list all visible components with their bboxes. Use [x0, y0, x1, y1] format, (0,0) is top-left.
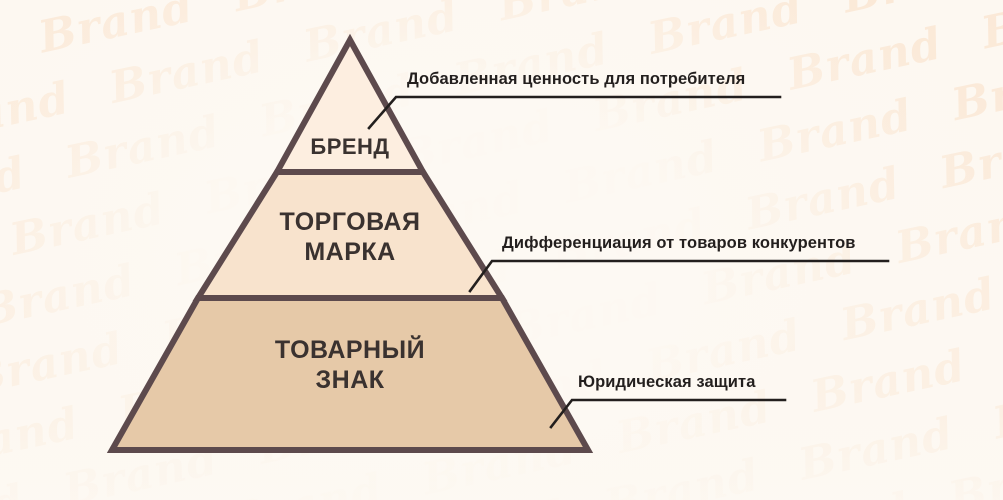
pyramid-tier-label-brand: БРЕНД	[255, 134, 445, 160]
callout-leader-line-legal-protection	[551, 400, 785, 427]
callout-leader-line-differentiation	[470, 261, 888, 291]
pyramid-tier-label-trademark: ТОРГОВАЯ МАРКА	[215, 208, 485, 267]
diagram-canvas: BrandBrandBrandBrandBrandBrandBrandBrand…	[0, 0, 1003, 500]
pyramid-tier-label-trade-sign: ТОВАРНЫЙ ЗНАК	[205, 336, 495, 395]
callout-leader-line-added-value	[369, 97, 780, 128]
callout-label-legal-protection: Юридическая защита	[578, 373, 756, 392]
callout-label-differentiation: Дифференциация от товаров конкурентов	[502, 234, 856, 253]
callout-label-added-value: Добавленная ценность для потребителя	[407, 70, 745, 89]
